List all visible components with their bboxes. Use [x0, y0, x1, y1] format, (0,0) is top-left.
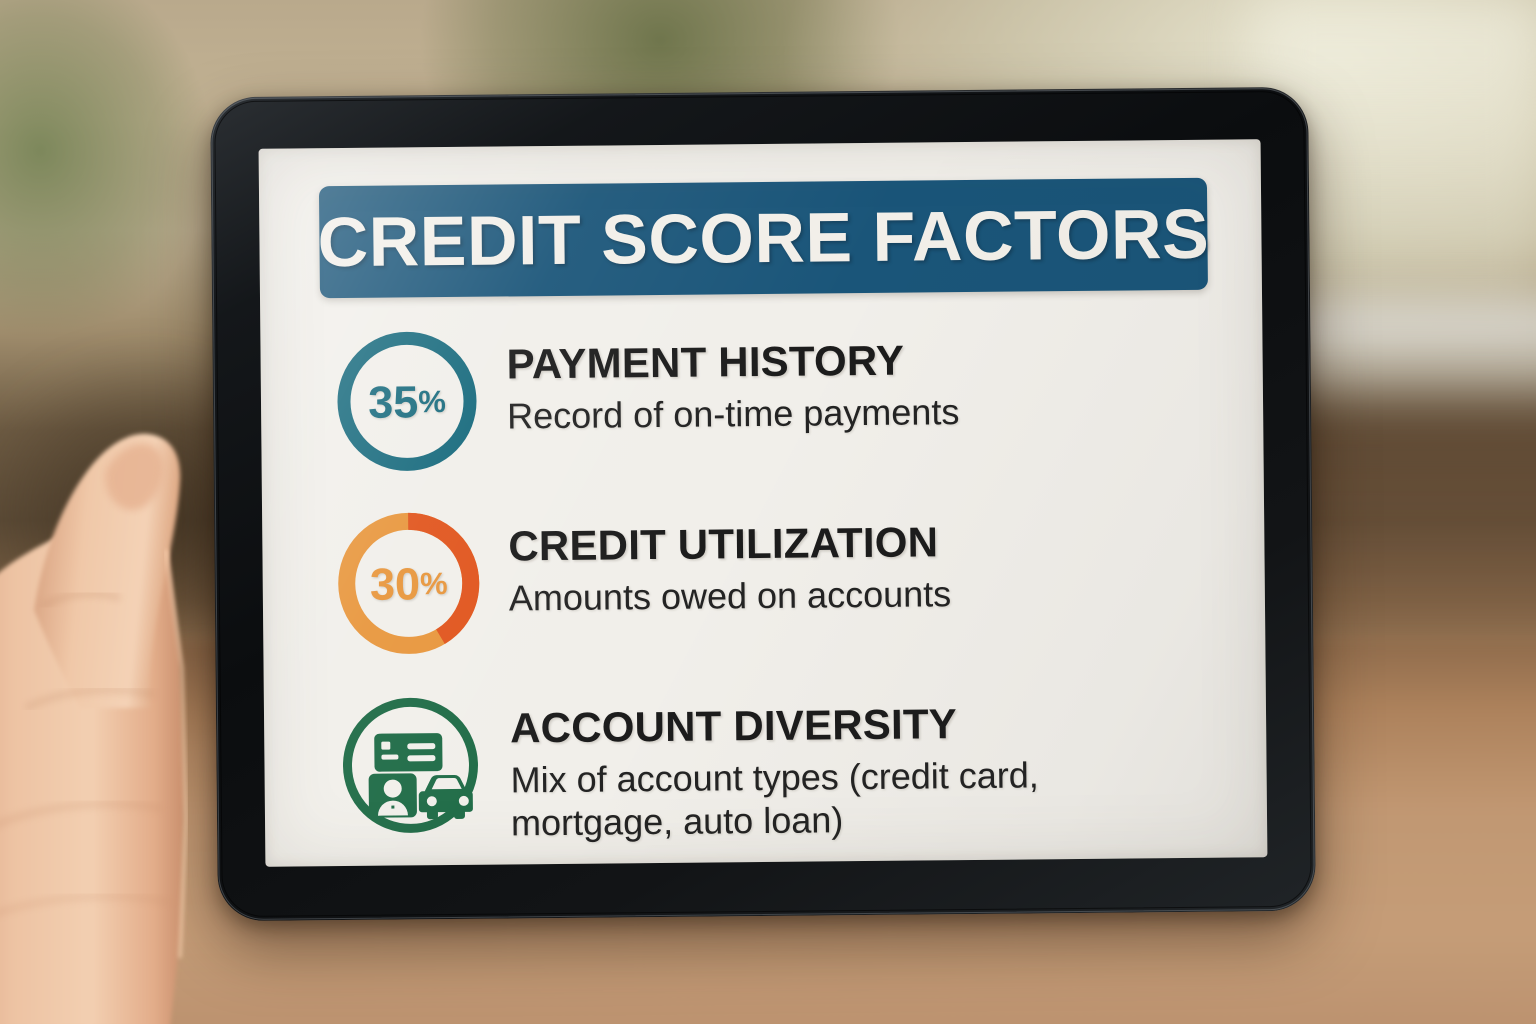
tablet-device[interactable]: CREDIT SCORE FACTORS 35%: [210, 87, 1316, 922]
factor-text-credit-utilization: CREDIT UTILIZATION Amounts owed on accou…: [508, 500, 951, 620]
account-types-icon-wrap: [332, 687, 489, 844]
percent-label-payment-history: 35%: [328, 323, 485, 480]
page-title: CREDIT SCORE FACTORS: [317, 199, 1209, 278]
photo-scene: CREDIT SCORE FACTORS 35%: [0, 0, 1536, 1024]
id-card-person-icon: [369, 773, 417, 817]
percent-value: 30: [370, 561, 420, 606]
donut-ring-credit-utilization: 30%: [330, 505, 487, 662]
title-banner: CREDIT SCORE FACTORS: [319, 178, 1208, 299]
factor-title: PAYMENT HISTORY: [506, 338, 959, 386]
factor-row-payment-history[interactable]: 35% PAYMENT HISTORY Record of on-time pa…: [320, 316, 1217, 481]
factor-row-credit-utilization[interactable]: 30% CREDIT UTILIZATION Amounts owed on a…: [322, 498, 1219, 663]
donut-ring-payment-history: 35%: [328, 323, 485, 480]
factor-row-account-diversity[interactable]: ACCOUNT DIVERSITY Mix of account types (…: [324, 680, 1221, 847]
factor-description: Amounts owed on accounts: [509, 573, 952, 620]
factor-title: ACCOUNT DIVERSITY: [510, 700, 1130, 750]
percent-symbol: %: [418, 386, 446, 417]
infographic-slide: CREDIT SCORE FACTORS 35%: [259, 139, 1268, 867]
factor-text-account-diversity: ACCOUNT DIVERSITY Mix of account types (…: [510, 680, 1131, 844]
factor-list: 35% PAYMENT HISTORY Record of on-time pa…: [320, 316, 1221, 847]
tablet-screen[interactable]: CREDIT SCORE FACTORS 35%: [259, 139, 1268, 867]
percent-value: 35: [368, 379, 418, 424]
factor-description: Record of on-time payments: [507, 391, 960, 438]
account-types-icon: [332, 687, 489, 844]
factor-description: Mix of account types (credit card, mortg…: [510, 754, 1131, 845]
factor-text-payment-history: PAYMENT HISTORY Record of on-time paymen…: [506, 318, 959, 438]
percent-symbol: %: [420, 568, 448, 599]
credit-card-icon: [374, 733, 442, 772]
percent-label-credit-utilization: 30%: [330, 505, 487, 662]
factor-title: CREDIT UTILIZATION: [508, 520, 951, 568]
